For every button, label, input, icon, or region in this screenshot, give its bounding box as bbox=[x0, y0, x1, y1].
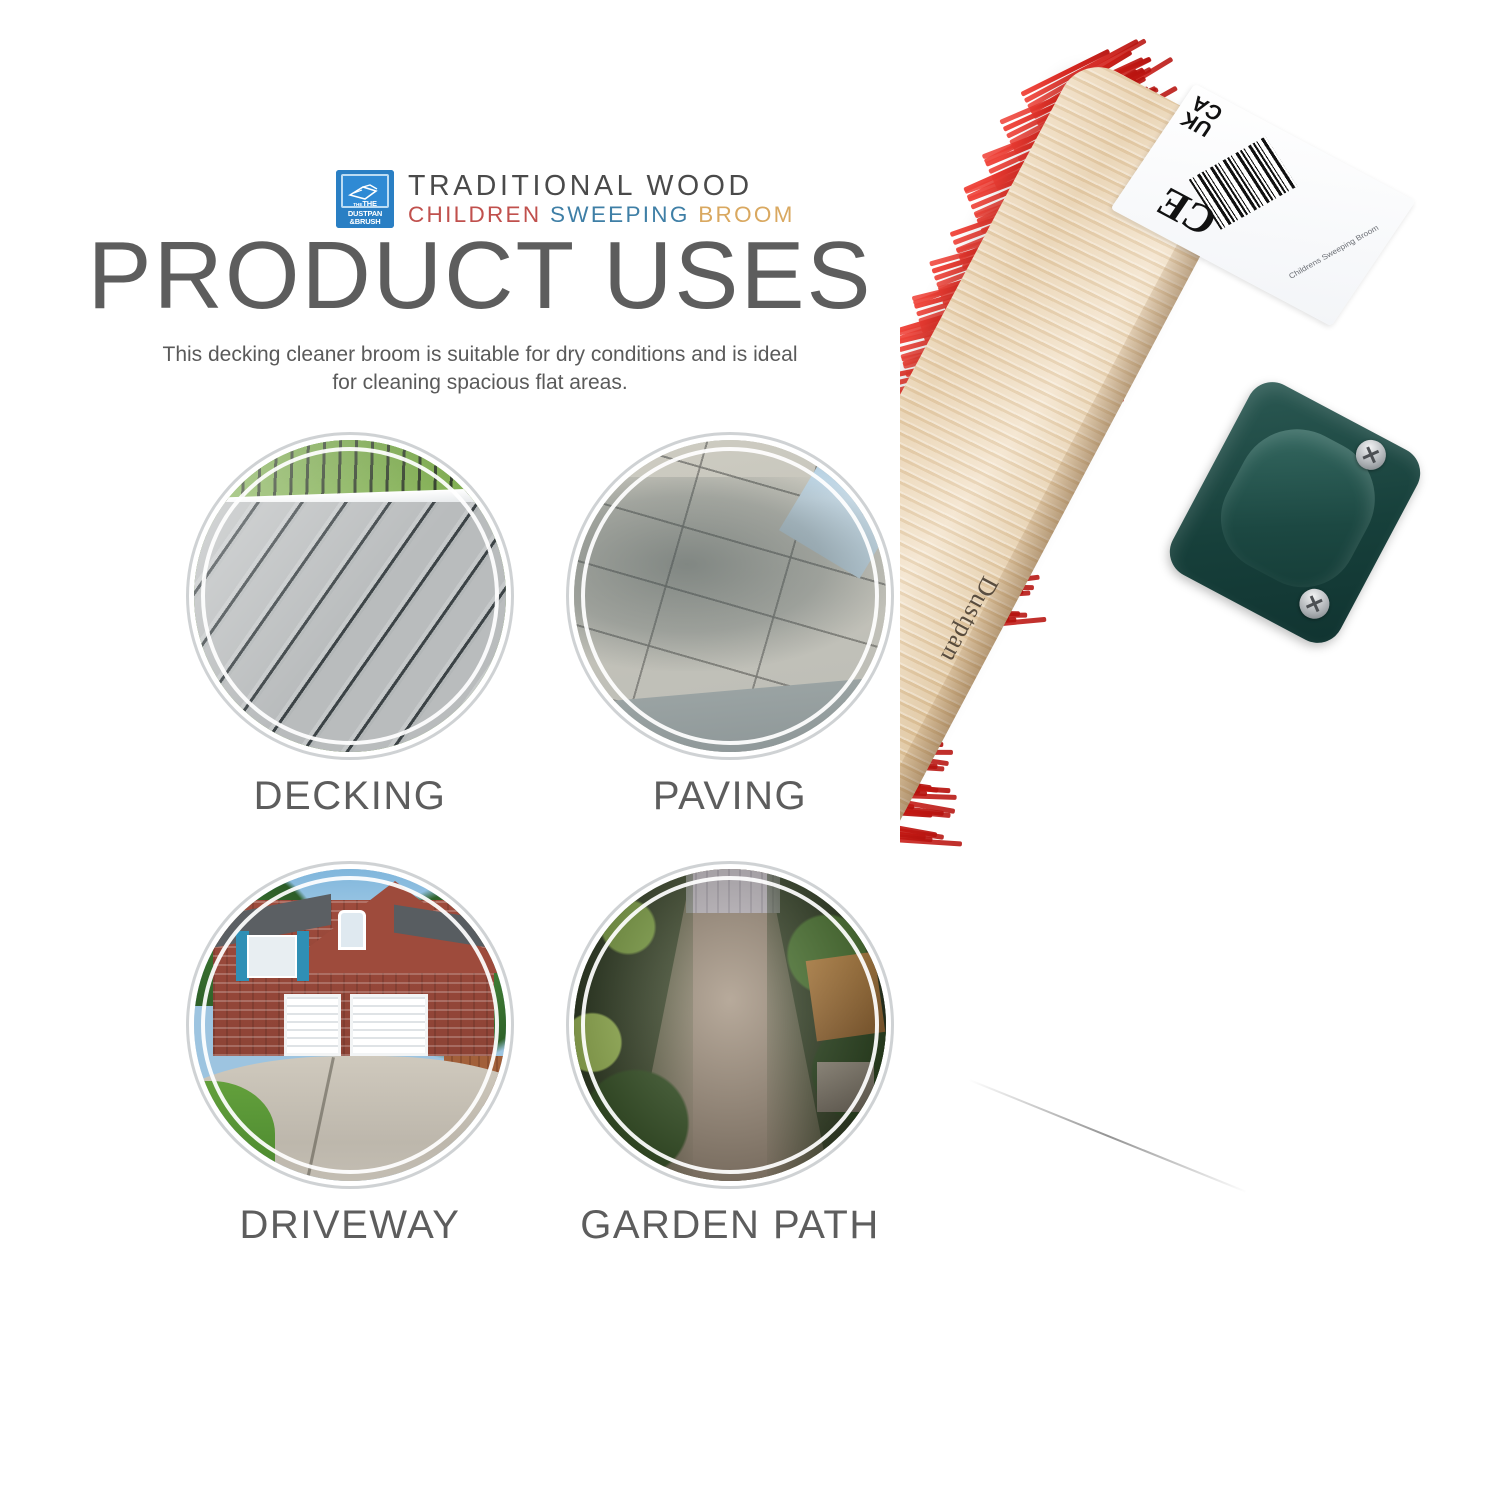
use-case-image-garden-path bbox=[574, 869, 886, 1181]
bracket-dome bbox=[1202, 408, 1396, 606]
use-case-image-paving bbox=[574, 440, 886, 752]
use-case-label-decking: DECKING bbox=[254, 774, 447, 819]
brand-text: TRADITIONAL WOOD CHILDREN SWEEPING BROOM bbox=[408, 172, 795, 226]
label-small-text: Childrens Sweeping Broom bbox=[1287, 211, 1401, 281]
product-photo: Dustpan UKCA CE Childrens Sweeping Broom bbox=[900, 0, 1500, 1500]
ukca-marking: UKCA bbox=[1177, 93, 1226, 139]
stray-hair-artifact bbox=[969, 1079, 1248, 1193]
use-case-label-driveway: DRIVEWAY bbox=[240, 1203, 461, 1248]
handle-bracket bbox=[1161, 373, 1430, 652]
bracket-screw-bottom bbox=[1294, 584, 1335, 625]
use-case-label-garden-path: GARDEN PATH bbox=[580, 1203, 880, 1248]
brand-lockup: THETHE DUSTPAN &BRUSH TRADITIONAL WOOD C… bbox=[336, 170, 795, 228]
sweeping-broom-head: Dustpan UKCA CE Childrens Sweeping Broom bbox=[900, 60, 1500, 1500]
dustpan-and-brush-icon: THETHE DUSTPAN &BRUSH bbox=[336, 170, 394, 228]
use-case-driveway: DRIVEWAY bbox=[150, 869, 550, 1248]
use-case-garden-path: GARDEN PATH bbox=[550, 869, 910, 1248]
use-case-label-paving: PAVING bbox=[653, 774, 807, 819]
use-case-image-decking bbox=[194, 440, 506, 752]
stock-edge bbox=[900, 135, 1258, 1083]
use-cases-grid: DECKING PAVING bbox=[150, 440, 910, 1248]
use-case-image-driveway bbox=[194, 869, 506, 1181]
page-subtitle: This decking cleaner broom is suitable f… bbox=[150, 341, 810, 397]
info-panel: THETHE DUSTPAN &BRUSH TRADITIONAL WOOD C… bbox=[0, 0, 960, 1500]
brand-line-traditional-wood: TRADITIONAL WOOD bbox=[408, 172, 795, 201]
use-case-paving: PAVING bbox=[550, 440, 910, 819]
use-cases-row-1: DECKING PAVING bbox=[150, 440, 910, 819]
use-case-decking: DECKING bbox=[150, 440, 550, 819]
page-title: PRODUCT USES bbox=[0, 226, 960, 327]
use-cases-row-2: DRIVEWAY GARDEN PATH bbox=[150, 869, 910, 1248]
